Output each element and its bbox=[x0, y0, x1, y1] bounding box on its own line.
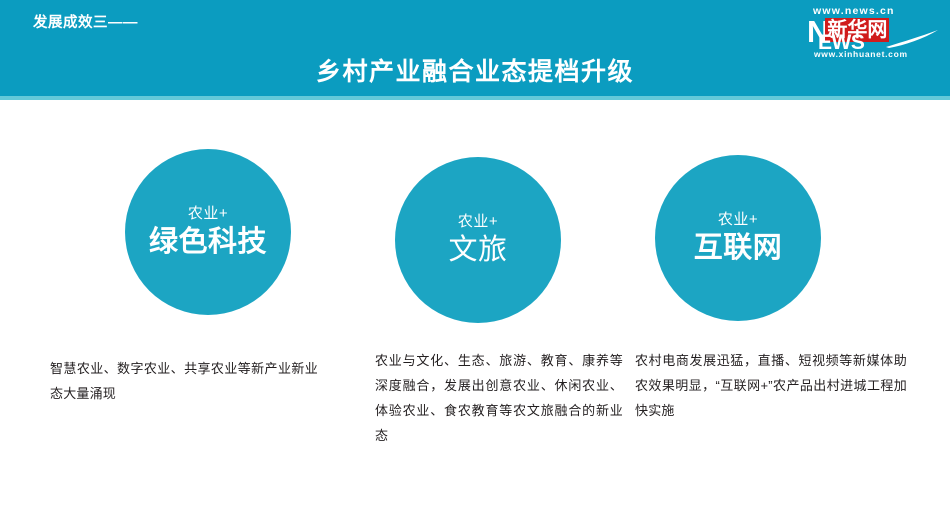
section-eyebrow-label: 发展成效三—— bbox=[33, 11, 138, 32]
description-paragraph-culture-tourism: 农业与文化、生态、旅游、教育、康养等深度融合，发展出创意农业、休闲农业、体验农业… bbox=[375, 348, 623, 448]
circle-prefix-label: 农业+ bbox=[718, 212, 758, 229]
circle-keyword-label: 文旅 bbox=[448, 234, 507, 266]
header-underline bbox=[0, 96, 950, 100]
description-paragraph-internet: 农村电商发展迅猛，直播、短视频等新媒体助农效果明显，“互联网+”农产品出村进城工… bbox=[635, 348, 907, 423]
circle-keyword-label: 绿色科技 bbox=[149, 226, 267, 258]
description-paragraph-green-tech: 智慧农业、数字农业、共享农业等新产业新业态大量涌现 bbox=[50, 356, 318, 406]
xinhua-logo: www.news.cn N新华网 EWS www.xinhuanet.com bbox=[805, 5, 941, 59]
slide-root: 发展成效三—— 乡村产业融合业态提档升级 www.news.cn N新华网 EW… bbox=[0, 0, 950, 515]
logo-bottom-url: www.xinhuanet.com bbox=[814, 49, 908, 59]
concept-circle-green-tech: 农业+ 绿色科技 bbox=[125, 149, 291, 315]
circle-prefix-label: 农业+ bbox=[458, 214, 498, 231]
circle-keyword-label: 互联网 bbox=[694, 232, 783, 264]
logo-swoosh-icon bbox=[885, 30, 939, 48]
concept-circle-culture-tourism: 农业+ 文旅 bbox=[395, 157, 561, 323]
circle-prefix-label: 农业+ bbox=[188, 206, 228, 223]
concept-circle-internet: 农业+ 互联网 bbox=[655, 155, 821, 321]
